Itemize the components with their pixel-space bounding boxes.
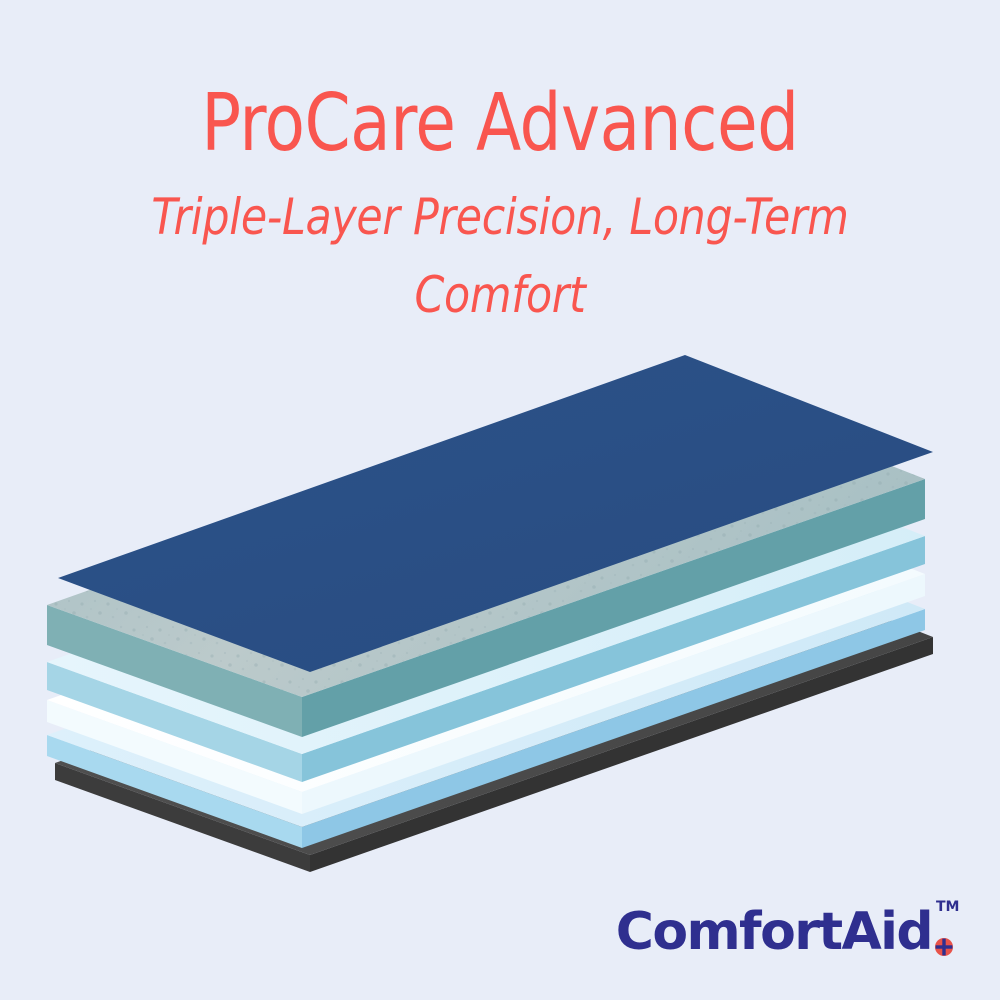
medical-cross-circle-icon [934, 937, 954, 957]
page-subtitle: Triple-Layer Precision, Long-Term Comfor… [149, 178, 852, 334]
logo-mark-group: TM [932, 902, 962, 958]
page-title: ProCare Advanced [35, 76, 965, 170]
brand-logo: ComfortAid TM [616, 896, 962, 958]
trademark-symbol: TM [936, 900, 959, 914]
poster-canvas: ProCare Advanced Triple-Layer Precision,… [0, 0, 1000, 1000]
logo-wordmark: ComfortAid [616, 906, 932, 958]
